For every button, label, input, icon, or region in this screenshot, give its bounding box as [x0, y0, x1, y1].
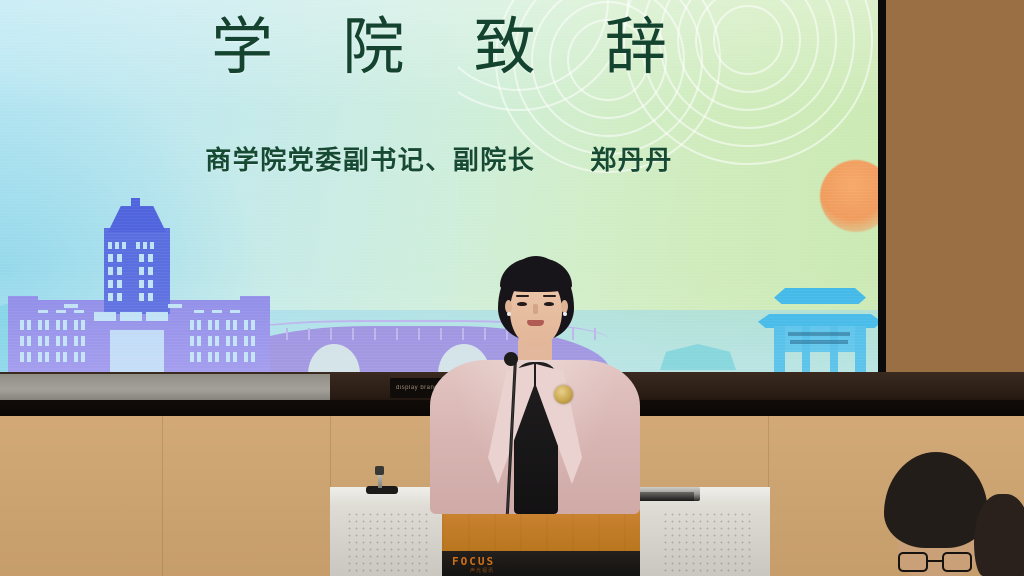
audience-person-front-right — [884, 452, 988, 576]
gold-brooch — [554, 385, 573, 404]
eyebrow-right — [543, 295, 556, 297]
earring-right — [563, 312, 567, 316]
podium-brand-sublabel: 声光视讯 — [470, 567, 494, 574]
screenshot-stage: 学 院 致 辞 商学院党委副书记、副院长 郑丹丹 display brand b… — [0, 0, 1024, 576]
speaker-hair-fringe — [500, 258, 572, 292]
glasses-lens-left — [898, 552, 928, 572]
nose — [533, 304, 538, 314]
speaker-grille-left — [346, 511, 432, 573]
eyeglasses-icon — [898, 552, 972, 574]
speaker-person — [430, 252, 640, 514]
eyebrow-left — [516, 295, 529, 297]
slide-title: 学 院 致 辞 — [0, 14, 878, 82]
audience-hair — [884, 452, 988, 548]
slide-subtitle: 商学院党委副书记、副院长 郑丹丹 — [0, 140, 878, 177]
audience-person-edge-hair — [974, 494, 1024, 576]
glasses-lens-right — [942, 552, 972, 572]
wall-seam — [162, 416, 163, 576]
table-microphone-head — [375, 466, 384, 475]
gooseneck-microphone-head — [504, 352, 518, 366]
eye-right — [544, 302, 554, 306]
eye-left — [517, 302, 527, 306]
table-microphone-base — [366, 486, 398, 494]
mouth — [527, 320, 544, 326]
glasses-bridge — [928, 560, 942, 562]
earring-left — [507, 312, 511, 316]
speaker-grille-right — [662, 511, 754, 573]
